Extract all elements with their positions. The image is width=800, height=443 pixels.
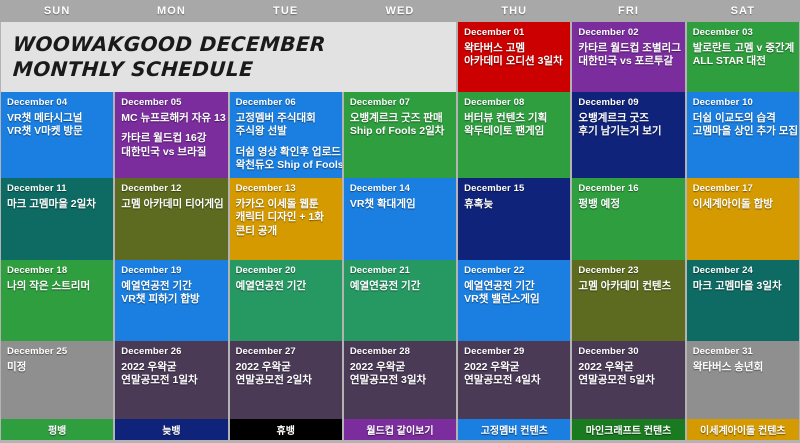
day-number: December 21: [350, 265, 450, 276]
event-list: VR챗 확대게임: [350, 198, 450, 211]
day-cell[interactable]: December 01왁타버스 고멤아카데미 오디션 3일차: [458, 22, 570, 92]
day-number: December 05: [121, 97, 221, 108]
event-entry: 2022 우왁굳연말공모전 1일차: [121, 361, 221, 388]
day-cell[interactable]: December 21예열연공전 기간: [344, 260, 456, 341]
event-list: 예열연공전 기간: [350, 280, 450, 293]
day-number: December 23: [578, 265, 678, 276]
weekday-label-thu: THU: [457, 0, 571, 22]
day-cell[interactable]: December 302022 우왁굳연말공모전 5일차: [572, 341, 684, 419]
day-cell[interactable]: December 04VR챗 메타시그널VR챗 V마켓 방문: [1, 92, 113, 178]
day-cell[interactable]: December 18나의 작은 스트리머: [1, 260, 113, 341]
day-number: December 13: [236, 183, 336, 194]
day-number: December 27: [236, 346, 336, 357]
event-line: 고멤 아카데미 티어게임: [121, 198, 221, 211]
event-list: 2022 우왁굳연말공모전 5일차: [578, 361, 678, 388]
day-cell[interactable]: December 17이세계아이돌 합방: [687, 178, 799, 260]
event-line: VR챗 밸런스게임: [464, 293, 564, 306]
event-line: 캐릭터 디자인 + 1화: [236, 211, 336, 224]
day-number: December 30: [578, 346, 678, 357]
event-entry: 오뱅계르크 굿즈 판매Ship of Fools 2일차: [350, 112, 450, 139]
event-line: VR챗 확대게임: [350, 198, 450, 211]
event-line: 고멤 아카데미 컨텐츠: [578, 280, 678, 293]
day-number: December 19: [121, 265, 221, 276]
day-cell[interactable]: December 03발로란트 고멤 v 중간계ALL STAR 대전: [687, 22, 799, 92]
day-cell[interactable]: December 31왁타버스 송년회: [687, 341, 799, 419]
event-entry: 2022 우왁굳연말공모전 2일차: [236, 361, 336, 388]
day-cell[interactable]: December 23고멤 아카데미 컨텐츠: [572, 260, 684, 341]
day-number: December 16: [578, 183, 678, 194]
event-line: 오뱅계르크 굿즈: [578, 112, 678, 125]
day-cell[interactable]: December 05MC 뉴프로해커 자유 13카타르 월드컵 16강대한민국…: [115, 92, 227, 178]
event-line: 대한민국 vs 포르투갈: [578, 55, 678, 68]
week-row-1: WOOWAKGOOD DECEMBER MONTHLY SCHEDULE Dec…: [0, 22, 800, 92]
event-line: 연말공모전 4일차: [464, 374, 564, 387]
event-line: 고멤마을 상인 추가 모집: [693, 125, 793, 138]
day-cell[interactable]: December 02카타르 월드컵 조별리그대한민국 vs 포르투갈: [572, 22, 684, 92]
day-number: December 20: [236, 265, 336, 276]
day-number: December 07: [350, 97, 450, 108]
day-number: December 29: [464, 346, 564, 357]
event-entry: 이세계아이돌 합방: [693, 198, 793, 211]
event-line: 연말공모전 2일차: [236, 374, 336, 387]
event-list: 나의 작은 스트리머: [7, 280, 107, 293]
event-list: 2022 우왁굳연말공모전 2일차: [236, 361, 336, 388]
calendar-title: WOOWAKGOOD DECEMBER MONTHLY SCHEDULE: [1, 22, 456, 92]
day-cell[interactable]: December 14VR챗 확대게임: [344, 178, 456, 260]
event-entry: 2022 우왁굳연말공모전 5일차: [578, 361, 678, 388]
event-list: 예열연공전 기간: [236, 280, 336, 293]
day-number: December 26: [121, 346, 221, 357]
event-line: 2022 우왁굳: [350, 361, 450, 374]
day-cell[interactable]: December 292022 우왁굳연말공모전 4일차: [458, 341, 570, 419]
event-entry: 발로란트 고멤 v 중간계ALL STAR 대전: [693, 42, 793, 69]
event-entry: 고멤 아카데미 컨텐츠: [578, 280, 678, 293]
day-number: December 11: [7, 183, 107, 194]
event-line: 2022 우왁굳: [121, 361, 221, 374]
event-entry: 예열연공전 기간VR챗 밸런스게임: [464, 280, 564, 307]
event-entry: 더쉽 영상 확인후 업로드왁천듀오 Ship of Fools: [236, 146, 336, 173]
event-list: 고멤 아카데미 티어게임: [121, 198, 221, 211]
event-list: VR챗 메타시그널VR챗 V마켓 방문: [7, 112, 107, 139]
day-number: December 08: [464, 97, 564, 108]
event-line: 2022 우왁굳: [578, 361, 678, 374]
event-line: 아카데미 오디션 3일차: [464, 55, 564, 68]
event-line: Ship of Fools 2일차: [350, 125, 450, 138]
event-list: 오뱅계르크 굿즈후기 남기는거 보기: [578, 112, 678, 139]
event-list: 예열연공전 기간VR챗 밸런스게임: [464, 280, 564, 307]
event-line: 예열연공전 기간: [350, 280, 450, 293]
event-line: 왁타버스 고멤: [464, 42, 564, 55]
weekday-label-sat: SAT: [686, 0, 800, 22]
day-number: December 02: [578, 27, 678, 38]
day-cell[interactable]: December 19예열연공전 기간VR챗 피하기 합방: [115, 260, 227, 341]
event-list: 버터뷰 컨텐츠 기획왁두테이토 팬게임: [464, 112, 564, 139]
week-row-5: December 25미정December 262022 우왁굳연말공모전 1일…: [0, 341, 800, 419]
event-list: 더쉽 이교도의 습격고멤마을 상인 추가 모집: [693, 112, 793, 139]
event-list: 카타르 월드컵 조별리그대한민국 vs 포르투갈: [578, 42, 678, 69]
event-list: 마크 고멤마을 3일차: [693, 280, 793, 293]
week-row-3: December 11마크 고멤마을 2일차December 12고멤 아카데미…: [0, 178, 800, 260]
legend-item[interactable]: 월드컵 같이보기: [344, 419, 456, 440]
day-number: December 17: [693, 183, 793, 194]
day-cell[interactable]: December 08버터뷰 컨텐츠 기획왁두테이토 팬게임: [458, 92, 570, 178]
event-line: 이세계아이돌 합방: [693, 198, 793, 211]
event-line: VR챗 V마켓 방문: [7, 125, 107, 138]
event-line: 2022 우왁굳: [236, 361, 336, 374]
day-number: December 06: [236, 97, 336, 108]
event-line: 콘티 공개: [236, 225, 336, 238]
monthly-calendar: SUNMONTUEWEDTHUFRISAT WOOWAKGOOD DECEMBE…: [0, 0, 800, 443]
event-entry: 펑뱅 예정: [578, 198, 678, 211]
day-number: December 09: [578, 97, 678, 108]
legend-item[interactable]: 늦뱅: [115, 419, 227, 440]
event-list: 오뱅계르크 굿즈 판매Ship of Fools 2일차: [350, 112, 450, 139]
day-number: December 18: [7, 265, 107, 276]
event-entry: 왁타버스 송년회: [693, 361, 793, 374]
weekday-label-sun: SUN: [0, 0, 114, 22]
event-line: 카타르 월드컵 16강: [121, 132, 221, 145]
event-list: 왁타버스 고멤아카데미 오디션 3일차: [464, 42, 564, 69]
legend-item[interactable]: 마인크래프트 컨텐츠: [572, 419, 684, 440]
weekday-label-wed: WED: [343, 0, 457, 22]
day-number: December 25: [7, 346, 107, 357]
weekday-label-tue: TUE: [229, 0, 343, 22]
day-number: December 14: [350, 183, 450, 194]
day-cell[interactable]: December 16펑뱅 예정: [572, 178, 684, 260]
day-cell[interactable]: December 12고멤 아카데미 티어게임: [115, 178, 227, 260]
event-line: 대한민국 vs 브라질: [121, 146, 221, 159]
event-list: 2022 우왁굳연말공모전 4일차: [464, 361, 564, 388]
legend-bar: 펑뱅늦뱅휴뱅월드컵 같이보기고정멤버 컨텐츠마인크래프트 컨텐츠이세계아이돌 컨…: [0, 419, 800, 441]
title-line-2: MONTHLY SCHEDULE: [12, 57, 457, 82]
event-line: 연말공모전 3일차: [350, 374, 450, 387]
day-cell[interactable]: December 282022 우왁굳연말공모전 3일차: [344, 341, 456, 419]
event-line: 카카오 이세돌 웹툰: [236, 198, 336, 211]
event-entry: 나의 작은 스트리머: [7, 280, 107, 293]
event-line: 고정멤버 주식대회: [236, 112, 336, 125]
event-entry: 고멤 아카데미 티어게임: [121, 198, 221, 211]
day-cell[interactable]: December 15휴혹늦: [458, 178, 570, 260]
event-list: 카카오 이세돌 웹툰캐릭터 디자인 + 1화콘티 공개: [236, 198, 336, 238]
day-number: December 15: [464, 183, 564, 194]
day-cell[interactable]: December 09오뱅계르크 굿즈후기 남기는거 보기: [572, 92, 684, 178]
event-list: 휴혹늦: [464, 198, 564, 211]
legend-item[interactable]: 펑뱅: [1, 419, 113, 440]
event-entry: 카타르 월드컵 조별리그대한민국 vs 포르투갈: [578, 42, 678, 69]
event-line: 버터뷰 컨텐츠 기획: [464, 112, 564, 125]
day-cell[interactable]: December 07오뱅계르크 굿즈 판매Ship of Fools 2일차: [344, 92, 456, 178]
day-number: December 10: [693, 97, 793, 108]
event-line: 예열연공전 기간: [121, 280, 221, 293]
event-list: 마크 고멤마을 2일차: [7, 198, 107, 211]
event-line: MC 뉴프로해커 자유 13: [121, 112, 221, 125]
day-cell[interactable]: December 13카카오 이세돌 웹툰캐릭터 디자인 + 1화콘티 공개: [230, 178, 342, 260]
event-line: 더쉽 이교도의 습격: [693, 112, 793, 125]
event-line: 휴혹늦: [464, 198, 564, 211]
event-list: 고정멤버 주식대회주식왕 선발더쉽 영상 확인후 업로드왁천듀오 Ship of…: [236, 112, 336, 173]
event-entry: VR챗 메타시그널VR챗 V마켓 방문: [7, 112, 107, 139]
event-line: ALL STAR 대전: [693, 55, 793, 68]
event-entry: 2022 우왁굳연말공모전 3일차: [350, 361, 450, 388]
event-entry: 예열연공전 기간VR챗 피하기 합방: [121, 280, 221, 307]
event-list: 2022 우왁굳연말공모전 3일차: [350, 361, 450, 388]
event-list: MC 뉴프로해커 자유 13카타르 월드컵 16강대한민국 vs 브라질: [121, 112, 221, 159]
event-list: 왁타버스 송년회: [693, 361, 793, 374]
event-line: 예열연공전 기간: [464, 280, 564, 293]
day-cell[interactable]: December 24마크 고멤마을 3일차: [687, 260, 799, 341]
event-list: 예열연공전 기간VR챗 피하기 합방: [121, 280, 221, 307]
event-line: 마크 고멤마을 3일차: [693, 280, 793, 293]
event-line: 연말공모전 5일차: [578, 374, 678, 387]
event-entry: 휴혹늦: [464, 198, 564, 211]
day-cell[interactable]: December 22예열연공전 기간VR챗 밸런스게임: [458, 260, 570, 341]
event-list: 고멤 아카데미 컨텐츠: [578, 280, 678, 293]
event-entry: 2022 우왁굳연말공모전 4일차: [464, 361, 564, 388]
day-number: December 03: [693, 27, 793, 38]
day-cell[interactable]: December 272022 우왁굳연말공모전 2일차: [230, 341, 342, 419]
day-number: December 12: [121, 183, 221, 194]
event-entry: 마크 고멤마을 2일차: [7, 198, 107, 211]
legend-item[interactable]: 이세계아이돌 컨텐츠: [687, 419, 799, 440]
event-line: 후기 남기는거 보기: [578, 125, 678, 138]
weekday-label-mon: MON: [114, 0, 228, 22]
event-line: 왁천듀오 Ship of Fools: [236, 159, 336, 172]
event-entry: 마크 고멤마을 3일차: [693, 280, 793, 293]
day-number: December 24: [693, 265, 793, 276]
day-number: December 04: [7, 97, 107, 108]
day-number: December 22: [464, 265, 564, 276]
day-cell[interactable]: December 10더쉽 이교도의 습격고멤마을 상인 추가 모집: [687, 92, 799, 178]
event-line: 마크 고멤마을 2일차: [7, 198, 107, 211]
week-row-4: December 18나의 작은 스트리머December 19예열연공전 기간…: [0, 260, 800, 341]
event-line: 왁타버스 송년회: [693, 361, 793, 374]
event-list: 미정: [7, 361, 107, 374]
day-cell[interactable]: December 11마크 고멤마을 2일차: [1, 178, 113, 260]
event-line: 나의 작은 스트리머: [7, 280, 107, 293]
event-entry: 예열연공전 기간: [236, 280, 336, 293]
day-cell[interactable]: December 25미정: [1, 341, 113, 419]
day-cell[interactable]: December 20예열연공전 기간: [230, 260, 342, 341]
event-entry: 더쉽 이교도의 습격고멤마을 상인 추가 모집: [693, 112, 793, 139]
event-entry: 카타르 월드컵 16강대한민국 vs 브라질: [121, 132, 221, 159]
event-line: 카타르 월드컵 조별리그: [578, 42, 678, 55]
event-line: VR챗 피하기 합방: [121, 293, 221, 306]
weekday-label-fri: FRI: [571, 0, 685, 22]
event-list: 발로란트 고멤 v 중간계ALL STAR 대전: [693, 42, 793, 69]
event-line: 2022 우왁굳: [464, 361, 564, 374]
legend-item[interactable]: 고정멤버 컨텐츠: [458, 419, 570, 440]
legend-item[interactable]: 휴뱅: [230, 419, 342, 440]
event-entry: 오뱅계르크 굿즈후기 남기는거 보기: [578, 112, 678, 139]
event-list: 2022 우왁굳연말공모전 1일차: [121, 361, 221, 388]
event-line: 연말공모전 1일차: [121, 374, 221, 387]
event-entry: 카카오 이세돌 웹툰캐릭터 디자인 + 1화콘티 공개: [236, 198, 336, 238]
day-number: December 31: [693, 346, 793, 357]
event-line: 예열연공전 기간: [236, 280, 336, 293]
event-entry: VR챗 확대게임: [350, 198, 450, 211]
event-line: 더쉽 영상 확인후 업로드: [236, 146, 336, 159]
title-line-1: WOOWAKGOOD DECEMBER: [12, 32, 457, 57]
week-row-2: December 04VR챗 메타시그널VR챗 V마켓 방문December 0…: [0, 92, 800, 178]
event-line: 펑뱅 예정: [578, 198, 678, 211]
event-entry: 예열연공전 기간: [350, 280, 450, 293]
event-entry: 왁타버스 고멤아카데미 오디션 3일차: [464, 42, 564, 69]
event-entry: 고정멤버 주식대회주식왕 선발: [236, 112, 336, 139]
event-list: 펑뱅 예정: [578, 198, 678, 211]
event-line: VR챗 메타시그널: [7, 112, 107, 125]
day-cell[interactable]: December 06고정멤버 주식대회주식왕 선발더쉽 영상 확인후 업로드왁…: [230, 92, 342, 178]
day-cell[interactable]: December 262022 우왁굳연말공모전 1일차: [115, 341, 227, 419]
event-entry: 미정: [7, 361, 107, 374]
weekday-header-row: SUNMONTUEWEDTHUFRISAT: [0, 0, 800, 22]
event-line: 오뱅계르크 굿즈 판매: [350, 112, 450, 125]
event-entry: MC 뉴프로해커 자유 13: [121, 112, 221, 125]
event-line: 발로란트 고멤 v 중간계: [693, 42, 793, 55]
event-line: 미정: [7, 361, 107, 374]
event-entry: 버터뷰 컨텐츠 기획왁두테이토 팬게임: [464, 112, 564, 139]
day-number: December 01: [464, 27, 564, 38]
event-line: 주식왕 선발: [236, 125, 336, 138]
event-line: 왁두테이토 팬게임: [464, 125, 564, 138]
event-list: 이세계아이돌 합방: [693, 198, 793, 211]
day-number: December 28: [350, 346, 450, 357]
